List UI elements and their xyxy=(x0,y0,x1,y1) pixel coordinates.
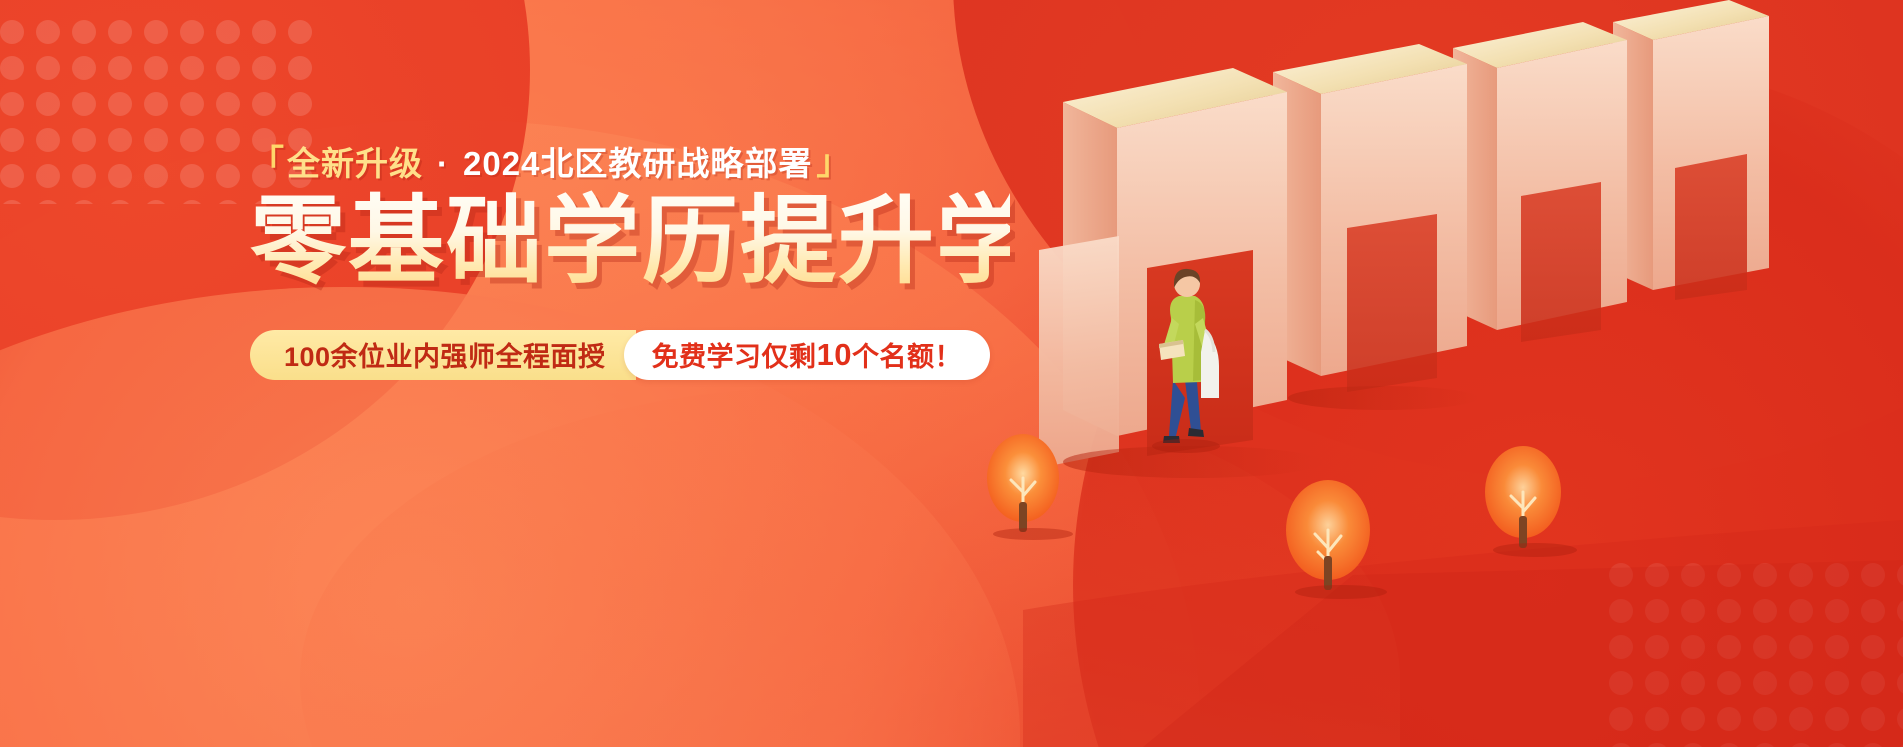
eyebrow-white-text: 2024北区教研战略部署 xyxy=(463,147,812,180)
benefit-pill-row: 100余位业内强师全程面授 免费学习仅剩10个名额！ xyxy=(250,330,1010,380)
banner-headline: 零基础学历提升学霸班 xyxy=(250,188,1010,296)
tree-far-left-icon xyxy=(975,430,1085,560)
eyebrow-line: 「 全新升级 · 2024北区教研战略部署 」 xyxy=(250,146,1010,180)
banner-copy: 「 全新升级 · 2024北区教研战略部署 」 零基础学历提升学霸班 100余位… xyxy=(250,146,1010,380)
pill-teachers: 100余位业内强师全程面授 xyxy=(250,330,636,380)
bracket-open: 「 xyxy=(250,146,285,180)
pill-seats-suffix: 个名额！ xyxy=(852,335,962,374)
pill-seats-remaining[interactable]: 免费学习仅剩10个名额！ xyxy=(624,330,990,380)
eyebrow-gold-text: 全新升级 xyxy=(287,147,423,180)
pill-seats-prefix: 免费学习仅剩 xyxy=(652,335,817,374)
pill-seats-number: 10 xyxy=(817,337,852,373)
pill-teachers-label: 100余位业内强师全程面授 xyxy=(284,335,606,374)
promo-banner: 「 全新升级 · 2024北区教研战略部署 」 零基础学历提升学霸班 100余位… xyxy=(0,0,1903,747)
bracket-close: 」 xyxy=(816,146,851,180)
eyebrow-separator: · xyxy=(437,147,449,180)
